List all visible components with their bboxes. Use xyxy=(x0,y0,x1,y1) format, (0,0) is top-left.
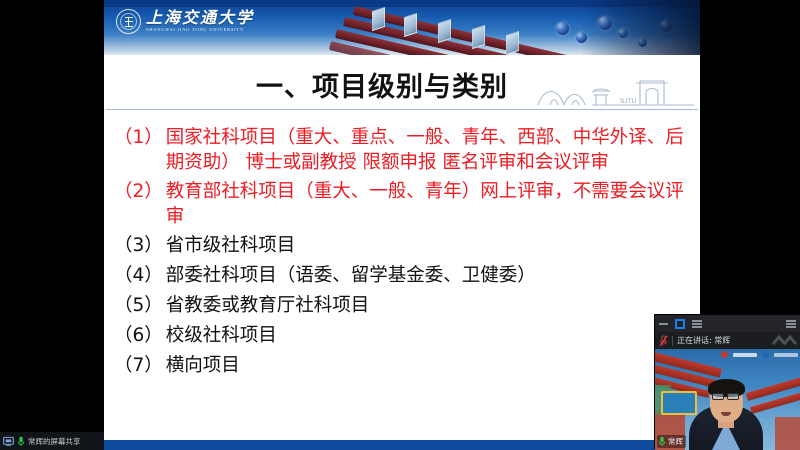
participant-glasses-right xyxy=(727,393,739,400)
list-item-number: （4） xyxy=(114,263,163,288)
slide-banner: 上海交通大学 SHANGHAI JIAO TONG UNIVERSITY xyxy=(104,0,700,55)
list-item: （4） 部委社科项目（语委、留学基金委、卫健委） xyxy=(114,263,694,288)
restore-window-icon[interactable] xyxy=(675,319,685,329)
more-options-icon[interactable] xyxy=(786,320,796,328)
minimize-icon[interactable] xyxy=(659,323,668,325)
banner-orb xyxy=(556,22,569,35)
banner-eave-block xyxy=(404,13,417,37)
list-item-number: （2） xyxy=(114,179,163,204)
university-seal-icon xyxy=(116,9,141,34)
backdrop-wall xyxy=(775,417,800,450)
hamburger-menu-icon[interactable] xyxy=(692,320,702,328)
overlay-wordmark xyxy=(774,353,798,357)
speakbar-divider xyxy=(672,336,673,346)
list-item-text: 校级社科项目 xyxy=(163,323,694,348)
slide-title-area: 一、项目级别与类别 xyxy=(104,55,700,115)
list-item-number: （7） xyxy=(114,353,163,378)
list-item-number: （3） xyxy=(114,233,163,258)
backdrop-plaque xyxy=(661,391,697,415)
list-item: （5） 省教委或教育厅社科项目 xyxy=(114,293,694,318)
participant-video-tile[interactable]: 常辉 xyxy=(655,349,800,450)
speaking-status-bar: 正在讲话: 常辉 xyxy=(655,332,800,349)
chevron-up-icon[interactable] xyxy=(772,335,798,346)
list-item: （1） 国家社科项目（重大、重点、一般、青年、西部、中华外译、后期资助） 博士或… xyxy=(114,125,694,175)
university-name-cn: 上海交通大学 xyxy=(146,9,254,26)
participant-glasses-left xyxy=(712,393,724,400)
taskbar: 常辉的屏幕共享 xyxy=(0,432,104,450)
list-item-text: 省市级社科项目 xyxy=(163,233,694,258)
list-item: （3） 省市级社科项目 xyxy=(114,233,694,258)
campus-art-label: SJTU xyxy=(620,98,637,105)
list-item: （6） 校级社科项目 xyxy=(114,323,694,348)
list-item: （7） 横向项目 xyxy=(114,353,694,378)
list-item-text: 横向项目 xyxy=(163,353,694,378)
speaking-status-text: 正在讲话: 常辉 xyxy=(677,335,730,346)
list-item-text: 部委社科项目（语委、留学基金委、卫健委） xyxy=(163,263,694,288)
screen-share-view: 上海交通大学 SHANGHAI JIAO TONG UNIVERSITY 一、项… xyxy=(0,0,800,450)
participant-name: 常辉 xyxy=(668,436,683,447)
list-item-text: 国家社科项目（重大、重点、一般、青年、西部、中华外译、后期资助） 博士或副教授 … xyxy=(163,125,694,175)
taskbar-label: 常辉的屏幕共享 xyxy=(28,436,81,447)
microphone-muted-icon[interactable] xyxy=(659,335,668,347)
microphone-icon[interactable] xyxy=(17,436,25,447)
slide-content-list: （1） 国家社科项目（重大、重点、一般、青年、西部、中华外译、后期资助） 博士或… xyxy=(104,115,700,378)
university-logo: 上海交通大学 SHANGHAI JIAO TONG UNIVERSITY xyxy=(116,9,254,34)
presentation-slide: 上海交通大学 SHANGHAI JIAO TONG UNIVERSITY 一、项… xyxy=(104,0,700,450)
video-overlay-logos xyxy=(721,351,798,358)
video-conference-panel[interactable]: 正在讲话: 常辉 xyxy=(655,315,800,450)
participant-name-chip: 常辉 xyxy=(657,435,686,448)
banner-eave-block xyxy=(472,25,485,49)
university-name-en: SHANGHAI JIAO TONG UNIVERSITY xyxy=(146,26,254,34)
list-item-number: （5） xyxy=(114,293,163,318)
list-item: （2） 教育部社科项目（重大、一般、青年）网上评审，不需要会议评审 xyxy=(114,179,694,229)
slide-bottom-accent-bar xyxy=(104,440,700,450)
overlay-seal-icon xyxy=(721,351,728,358)
list-item-number: （1） xyxy=(114,125,163,150)
video-panel-titlebar[interactable] xyxy=(655,315,800,332)
banner-eave-block xyxy=(372,7,385,31)
list-item-text: 教育部社科项目（重大、一般、青年）网上评审，不需要会议评审 xyxy=(163,179,694,229)
banner-eave-block xyxy=(506,31,519,55)
banner-right-shade xyxy=(580,0,700,55)
overlay-seal-icon xyxy=(762,351,769,358)
overlay-wordmark xyxy=(733,353,757,357)
list-item-number: （6） xyxy=(114,323,163,348)
list-item-text: 省教委或教育厅社科项目 xyxy=(163,293,694,318)
campus-skyline-art-icon: SJTU xyxy=(536,71,696,111)
microphone-active-icon[interactable] xyxy=(658,436,666,447)
screen-share-icon[interactable] xyxy=(3,436,14,447)
banner-eave-block xyxy=(438,19,451,43)
